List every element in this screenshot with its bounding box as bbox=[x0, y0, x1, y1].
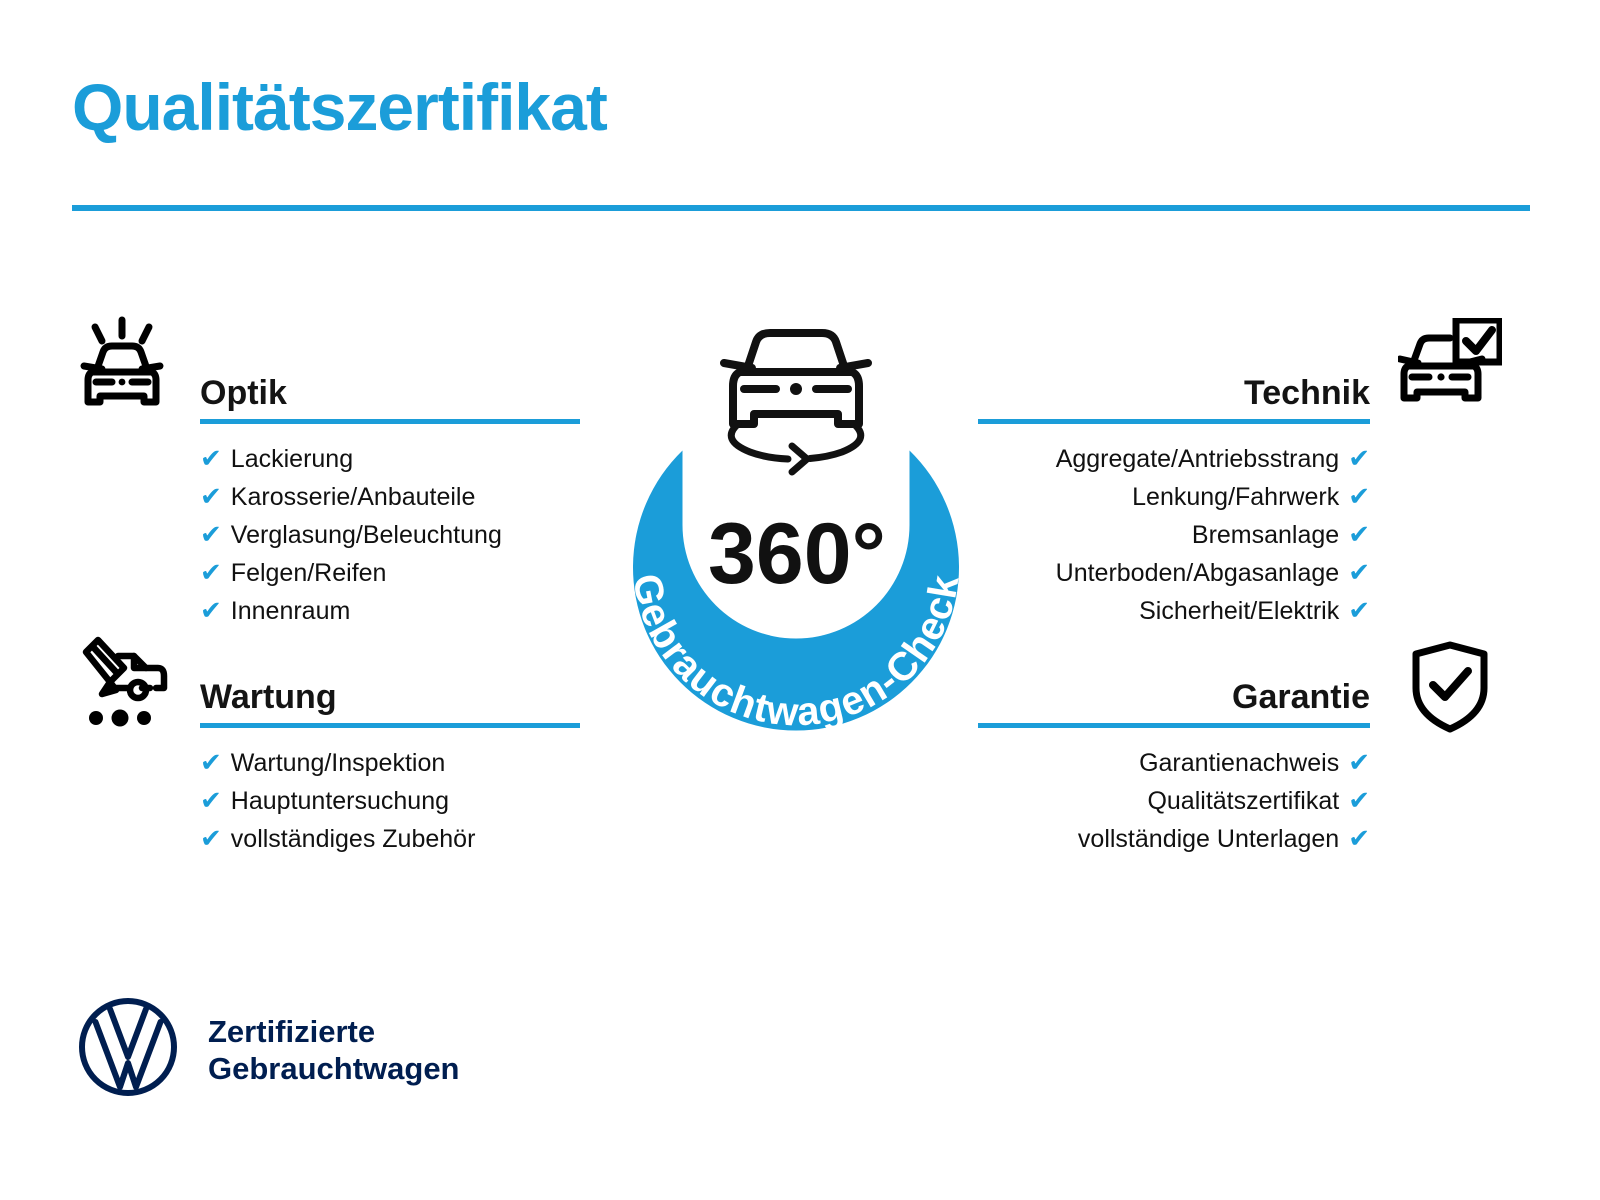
list-item: ✔Hauptuntersuchung bbox=[200, 782, 580, 820]
check-icon: ✔ bbox=[1348, 595, 1370, 625]
car-front-checkbox-icon bbox=[1398, 318, 1502, 421]
check-icon: ✔ bbox=[200, 443, 222, 473]
list-item: ✔Karosserie/Anbauteile bbox=[200, 478, 580, 516]
list-item: Aggregate/Antriebsstrang✔ bbox=[978, 440, 1370, 478]
section-garantie: Garantie Garantienachweis✔ Qualitätszert… bbox=[978, 662, 1370, 858]
list-item-label: Karosserie/Anbauteile bbox=[231, 483, 476, 511]
footer-text: Zertifizierte Gebrauchtwagen bbox=[208, 1013, 460, 1087]
volkswagen-logo bbox=[76, 995, 180, 1104]
list-item-label: Aggregate/Antriebsstrang bbox=[1056, 445, 1340, 473]
list-item-label: Unterboden/Abgasanlage bbox=[1056, 559, 1340, 587]
list-item: Sicherheit/Elektrik✔ bbox=[978, 592, 1370, 630]
list-item: Unterboden/Abgasanlage✔ bbox=[978, 554, 1370, 592]
section-optik-title: Optik bbox=[200, 376, 287, 410]
list-item-label: Verglasung/Beleuchtung bbox=[231, 521, 502, 549]
shield-check-icon bbox=[1406, 640, 1494, 739]
section-garantie-head: Garantie bbox=[978, 662, 1370, 714]
section-technik-title: Technik bbox=[1244, 376, 1370, 410]
list-item-label: Lackierung bbox=[231, 445, 353, 473]
list-item-label: Sicherheit/Elektrik bbox=[1139, 597, 1339, 625]
list-item-label: Garantienachweis bbox=[1139, 749, 1339, 777]
check-icon: ✔ bbox=[1348, 443, 1370, 473]
pen-car-service-icon bbox=[72, 636, 172, 737]
list-item: ✔Innenraum bbox=[200, 592, 580, 630]
check-icon: ✔ bbox=[1348, 785, 1370, 815]
section-technik-list: Aggregate/Antriebsstrang✔ Lenkung/Fahrwe… bbox=[978, 440, 1370, 630]
list-item-label: Wartung/Inspektion bbox=[231, 749, 445, 777]
certificate-page: Qualitätszertifikat bbox=[0, 0, 1600, 1200]
check-icon: ✔ bbox=[200, 747, 222, 777]
check-icon: ✔ bbox=[200, 481, 222, 511]
list-item: ✔vollständiges Zubehör bbox=[200, 820, 580, 858]
car-front-rotate-icon bbox=[724, 333, 868, 472]
check-icon: ✔ bbox=[1348, 519, 1370, 549]
section-garantie-list: Garantienachweis✔ Qualitätszertifikat✔ v… bbox=[978, 744, 1370, 858]
section-wartung-list: ✔Wartung/Inspektion ✔Hauptuntersuchung ✔… bbox=[200, 744, 580, 858]
section-wartung-head: Wartung bbox=[200, 662, 580, 714]
list-item: Lenkung/Fahrwerk✔ bbox=[978, 478, 1370, 516]
page-title: Qualitätszertifikat bbox=[72, 74, 607, 140]
check-icon: ✔ bbox=[200, 785, 222, 815]
section-wartung: Wartung ✔Wartung/Inspektion ✔Hauptunters… bbox=[200, 662, 580, 858]
check-icon: ✔ bbox=[1348, 557, 1370, 587]
section-garantie-title: Garantie bbox=[1232, 680, 1370, 714]
list-item: ✔Lackierung bbox=[200, 440, 580, 478]
footer-line-1: Zertifizierte bbox=[208, 1013, 460, 1050]
footer-line-2: Gebrauchtwagen bbox=[208, 1050, 460, 1087]
check-icon: ✔ bbox=[200, 557, 222, 587]
list-item-label: Felgen/Reifen bbox=[231, 559, 387, 587]
section-garantie-divider bbox=[978, 723, 1370, 728]
check-icon: ✔ bbox=[1348, 481, 1370, 511]
list-item: Garantienachweis✔ bbox=[978, 744, 1370, 782]
section-wartung-title: Wartung bbox=[200, 680, 337, 714]
check-icon: ✔ bbox=[200, 823, 222, 853]
list-item-label: vollständige Unterlagen bbox=[1078, 825, 1339, 853]
section-technik-head: Technik bbox=[978, 358, 1370, 410]
list-item: Qualitätszertifikat✔ bbox=[978, 782, 1370, 820]
title-divider bbox=[72, 205, 1530, 211]
list-item-label: vollständiges Zubehör bbox=[231, 825, 476, 853]
list-item: ✔Felgen/Reifen bbox=[200, 554, 580, 592]
list-item: Bremsanlage✔ bbox=[978, 516, 1370, 554]
footer-lockup: Zertifizierte Gebrauchtwagen bbox=[76, 995, 460, 1104]
section-technik: Technik Aggregate/Antriebsstrang✔ Lenkun… bbox=[978, 358, 1370, 630]
list-item: ✔Wartung/Inspektion bbox=[200, 744, 580, 782]
check-icon: ✔ bbox=[200, 595, 222, 625]
car-front-shine-icon bbox=[72, 316, 172, 421]
section-technik-divider bbox=[978, 419, 1370, 424]
section-optik-head: Optik bbox=[200, 358, 580, 410]
section-optik-divider bbox=[200, 419, 580, 424]
section-optik: Optik ✔Lackierung ✔Karosserie/Anbauteile… bbox=[200, 358, 580, 630]
gebrauchtwagen-check-badge: Gebrauchtwagen-Check 360° bbox=[586, 300, 1006, 760]
list-item-label: Innenraum bbox=[231, 597, 351, 625]
list-item: vollständige Unterlagen✔ bbox=[978, 820, 1370, 858]
list-item-label: Bremsanlage bbox=[1192, 521, 1339, 549]
list-item-label: Hauptuntersuchung bbox=[231, 787, 449, 815]
section-wartung-divider bbox=[200, 723, 580, 728]
check-icon: ✔ bbox=[200, 519, 222, 549]
section-optik-list: ✔Lackierung ✔Karosserie/Anbauteile ✔Verg… bbox=[200, 440, 580, 630]
check-icon: ✔ bbox=[1348, 823, 1370, 853]
list-item-label: Lenkung/Fahrwerk bbox=[1132, 483, 1339, 511]
list-item-label: Qualitätszertifikat bbox=[1147, 787, 1339, 815]
badge-center-label: 360° bbox=[708, 506, 886, 602]
check-icon: ✔ bbox=[1348, 747, 1370, 777]
list-item: ✔Verglasung/Beleuchtung bbox=[200, 516, 580, 554]
